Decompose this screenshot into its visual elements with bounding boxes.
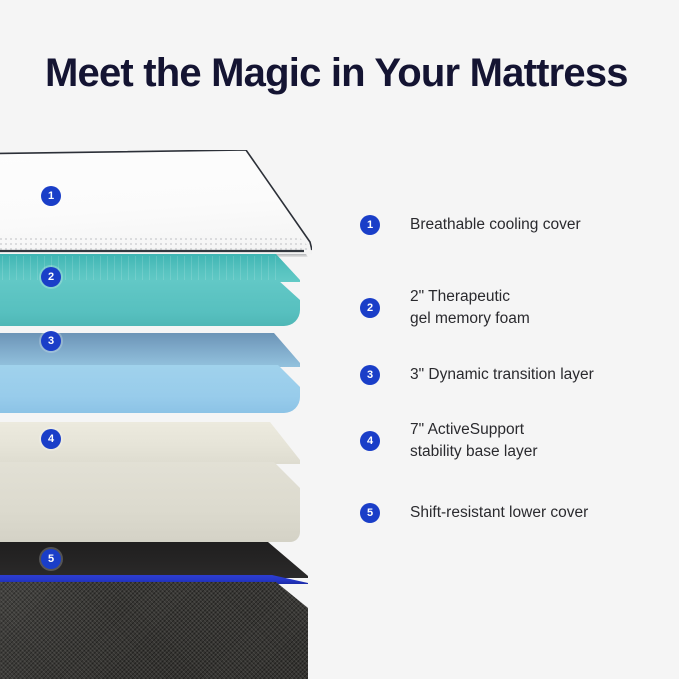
stack-badge-3[interactable]: 3 <box>41 331 61 351</box>
legend-label-2: 2" Therapeutic gel memory foam <box>410 286 530 330</box>
legend-label-5: Shift-resistant lower cover <box>410 502 588 524</box>
mattress-layer-diagram: 1 2 3 4 5 <box>0 150 340 640</box>
infographic-canvas: Meet the Magic in Your Mattress <box>0 0 679 679</box>
cover-knit-texture <box>0 238 312 252</box>
stack-badge-1[interactable]: 1 <box>41 186 61 206</box>
mattress-layer-gel-memory-foam <box>0 254 300 338</box>
stack-badge-4[interactable]: 4 <box>41 429 61 449</box>
foam-front-face <box>0 365 300 413</box>
legend-label-4: 7" ActiveSupport stability base layer <box>410 419 538 463</box>
page-title: Meet the Magic in Your Mattress <box>45 48 628 98</box>
legend-label-1: Breathable cooling cover <box>410 214 581 236</box>
legend-badge-1: 1 <box>360 215 380 235</box>
legend-item-5[interactable]: 5 Shift-resistant lower cover <box>360 502 588 524</box>
legend-badge-2: 2 <box>360 298 380 318</box>
stack-badge-2[interactable]: 2 <box>41 267 61 287</box>
legend-item-3[interactable]: 3 3" Dynamic transition layer <box>360 364 594 386</box>
foam-front-face <box>0 280 300 326</box>
base-woven-fabric <box>0 582 308 679</box>
legend-item-2[interactable]: 2 2" Therapeutic gel memory foam <box>360 286 530 330</box>
legend-label-3: 3" Dynamic transition layer <box>410 364 594 386</box>
legend-item-4[interactable]: 4 7" ActiveSupport stability base layer <box>360 419 538 463</box>
stack-badge-5[interactable]: 5 <box>41 549 61 569</box>
legend-badge-4: 4 <box>360 431 380 451</box>
legend-badge-5: 5 <box>360 503 380 523</box>
foam-front-face <box>0 462 300 542</box>
legend-item-1[interactable]: 1 Breathable cooling cover <box>360 214 581 236</box>
legend-badge-3: 3 <box>360 365 380 385</box>
